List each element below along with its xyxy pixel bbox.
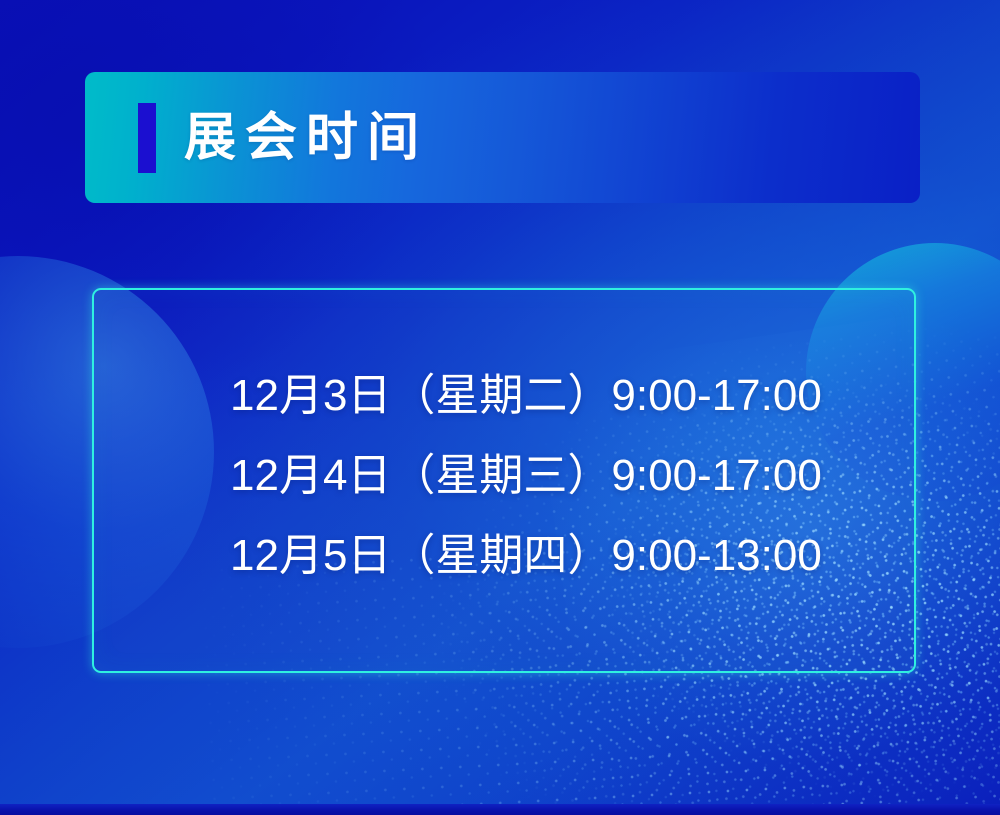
list-item: 12月4日（星期三）9:00-17:00	[230, 436, 822, 516]
list-item: 12月3日（星期二）9:00-17:00	[230, 356, 822, 436]
accent-bar-icon	[138, 103, 156, 173]
section-header-banner: 展会时间	[85, 72, 920, 203]
schedule-panel: 12月3日（星期二）9:00-17:00 12月4日（星期三）9:00-17:0…	[92, 288, 916, 673]
list-item: 12月5日（星期四）9:00-13:00	[230, 516, 822, 596]
schedule-list: 12月3日（星期二）9:00-17:00 12月4日（星期三）9:00-17:0…	[230, 356, 822, 596]
bottom-edge-strip	[0, 804, 1000, 815]
exhibition-time-poster: 展会时间 12月3日（星期二）9:00-17:00 12月4日（星期三）9:00…	[0, 0, 1000, 815]
page-title: 展会时间	[184, 112, 428, 164]
